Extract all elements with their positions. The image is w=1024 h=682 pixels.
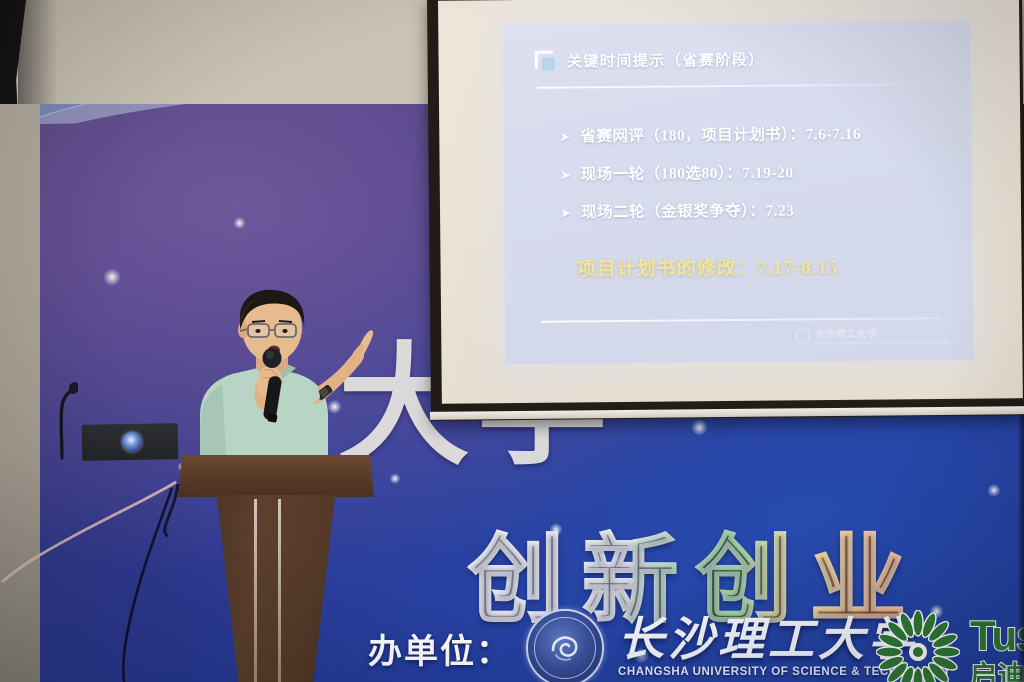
podium-stripe	[254, 499, 257, 682]
list-item-label: 现场一轮（180选80）：7.19-20	[581, 161, 794, 185]
list-item: ➤ 现场一轮（180选80）：7.19-20	[560, 160, 862, 185]
sponsor-label: 办单位：	[368, 624, 512, 673]
podium-stripe	[278, 499, 281, 682]
seal-swirl-icon	[547, 630, 583, 666]
gooseneck-microphone-icon	[48, 380, 78, 460]
slide-bullet-list: ➤ 省赛网评（180，项目计划书）：7.6-7.16 ➤ 现场一轮（180选80…	[559, 122, 862, 239]
pattern-dot	[234, 217, 245, 228]
slide-header: 关键时间提示（省赛阶段）	[535, 49, 765, 72]
list-item-label: 省赛网评（180，项目计划书）：7.6-7.16	[580, 122, 861, 146]
corner-bracket-icon	[535, 51, 556, 72]
slide-watermark: 长沙理工大学 CHANGSHA UNIVERSITY OF SCIENCE & …	[795, 325, 951, 345]
slide-highlight-text: 项目计划书的修改：7.17-8.15	[577, 252, 839, 281]
list-item: ➤ 省赛网评（180，项目计划书）：7.6-7.16	[559, 122, 861, 147]
podium-body	[198, 495, 354, 682]
floor-cables	[0, 470, 220, 682]
laptop-lid	[82, 423, 179, 461]
watermark-seal-icon	[795, 328, 810, 343]
partner-name-cn: 启迪之星	[970, 663, 1024, 682]
projected-slide: 关键时间提示（省赛阶段） ➤ 省赛网评（180，项目计划书）：7.6-7.16 …	[503, 21, 974, 364]
watermark-subtitle: CHANGSHA UNIVERSITY OF SCIENCE & TECHNOL…	[815, 339, 951, 345]
presentation-photo-scene: 创新创业 大学 办单位： 长沙理工大学 CHANGSHA UNIVERSITY …	[0, 0, 1024, 682]
university-name-cn: 长沙理工大学	[618, 617, 918, 663]
bullet-arrow-icon: ➤	[560, 168, 571, 181]
slide-header-divider	[537, 83, 935, 88]
slide-footer-divider	[541, 317, 941, 322]
slide-title: 关键时间提示（省赛阶段）	[567, 49, 765, 72]
bullet-arrow-icon: ➤	[560, 206, 571, 219]
list-item-label: 现场二轮（金银奖争夺）：7.23	[581, 199, 795, 223]
partner-name-en: TusStar	[970, 615, 1024, 657]
watermark-name: 长沙理工大学	[815, 325, 951, 340]
flower-emblem-icon	[876, 610, 960, 682]
partner-name-block: TusStar 启迪之星	[970, 615, 1024, 682]
sponsor-row: 办单位： 长沙理工大学 CHANGSHA UNIVERSITY OF SCIEN…	[368, 609, 951, 682]
pattern-dot	[692, 420, 707, 435]
university-seal-icon	[526, 609, 604, 682]
pattern-dot	[988, 484, 1000, 496]
laptop-sticker-icon	[122, 432, 142, 452]
list-item: ➤ 现场二轮（金银奖争夺）：7.23	[560, 198, 862, 223]
pattern-dot	[104, 269, 120, 285]
bullet-arrow-icon: ➤	[559, 130, 570, 143]
partner-logo-block: TusStar 启迪之星	[876, 610, 1024, 682]
